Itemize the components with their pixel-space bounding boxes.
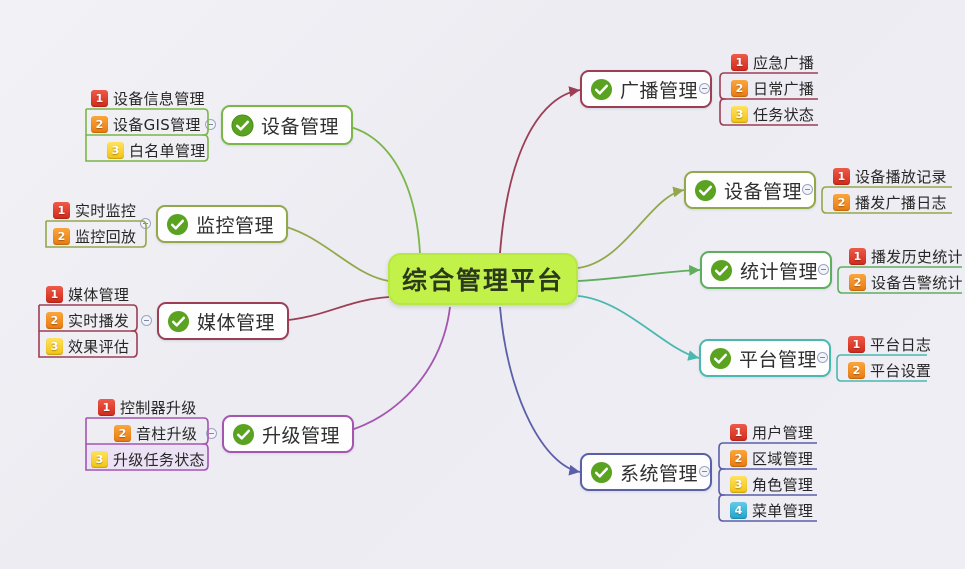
branch-label: 设备管理	[261, 112, 339, 139]
leaf-label: 用户管理	[752, 422, 813, 443]
mindmap-canvas: 综合管理平台 设备管理 1 设备信息管理 2 设备GI	[0, 0, 965, 569]
branch-node-platform-mgmt[interactable]: 平台管理	[699, 339, 831, 377]
leaf-label: 音柱升级	[136, 423, 197, 444]
collapse-minus-icon[interactable]	[818, 264, 829, 275]
branch-node-device-mgmt-left[interactable]: 设备管理	[221, 105, 353, 145]
leaf-badge: 1	[731, 54, 748, 71]
leaf-item[interactable]: 3 任务状态	[728, 102, 820, 127]
leaf-item[interactable]: 1 应急广播	[728, 50, 820, 75]
leaf-badge: 1	[833, 168, 850, 185]
leafgroup-upgrade-mgmt: 1 控制器升级 2 音柱升级 3 升级任务状态	[84, 393, 209, 475]
leaf-label: 角色管理	[752, 474, 813, 495]
leaf-label: 菜单管理	[752, 500, 813, 521]
leaf-badge: 3	[730, 476, 747, 493]
branch-node-system-mgmt[interactable]: 系统管理	[580, 453, 712, 491]
leaf-item[interactable]: 2 设备告警统计	[846, 270, 965, 295]
leaf-label: 效果评估	[68, 336, 129, 357]
leaf-item[interactable]: 2 日常广播	[728, 76, 820, 101]
branch-node-media-mgmt[interactable]: 媒体管理	[157, 302, 289, 340]
collapse-minus-icon[interactable]	[817, 352, 828, 363]
leaf-item[interactable]: 1 控制器升级	[95, 395, 203, 420]
leaf-label: 设备信息管理	[113, 88, 205, 109]
center-node-label: 综合管理平台	[402, 261, 564, 297]
leaf-label: 播发历史统计	[871, 246, 963, 267]
check-circle-icon	[694, 179, 717, 202]
leaf-label: 日常广播	[753, 78, 814, 99]
leaf-badge: 2	[53, 228, 70, 245]
leaf-badge: 3	[91, 451, 108, 468]
branch-label: 平台管理	[739, 345, 817, 372]
leaf-label: 应急广播	[753, 52, 814, 73]
leaf-badge: 1	[730, 424, 747, 441]
leaf-item[interactable]: 3 效果评估	[43, 334, 135, 359]
leaf-label: 平台日志	[870, 334, 931, 355]
leaf-label: 设备告警统计	[871, 272, 963, 293]
check-circle-icon	[710, 259, 733, 282]
check-circle-icon	[232, 423, 255, 446]
center-node[interactable]: 综合管理平台	[388, 253, 578, 305]
leaf-badge: 1	[98, 399, 115, 416]
leaf-item[interactable]: 2 音柱升级	[111, 421, 203, 446]
leafgroup-monitor-mgmt: 1 实时监控 2 监控回放	[44, 196, 149, 248]
branch-node-upgrade-mgmt[interactable]: 升级管理	[222, 415, 354, 453]
leaf-label: 设备GIS管理	[113, 114, 201, 135]
check-circle-icon	[231, 114, 254, 137]
leaf-badge: 1	[91, 90, 108, 107]
collapse-minus-icon[interactable]	[699, 466, 710, 477]
leaf-label: 区域管理	[752, 448, 813, 469]
branch-label: 设备管理	[724, 177, 802, 204]
collapse-minus-icon[interactable]	[699, 83, 710, 94]
leaf-label: 媒体管理	[68, 284, 129, 305]
branch-node-stat-mgmt[interactable]: 统计管理	[700, 251, 832, 289]
leafgroup-stat-mgmt: 1 播发历史统计 2 设备告警统计	[832, 242, 965, 298]
leaf-label: 监控回放	[75, 226, 136, 247]
branch-label: 广播管理	[620, 76, 698, 103]
branch-node-monitor-mgmt[interactable]: 监控管理	[156, 205, 288, 243]
leaf-label: 播发广播日志	[855, 192, 947, 213]
branch-node-device-mgmt-right[interactable]: 设备管理	[684, 171, 816, 209]
check-circle-icon	[167, 310, 190, 333]
leafgroup-device-mgmt-left: 1 设备信息管理 2 设备GIS管理 3 白名单管理	[84, 84, 209, 162]
leaf-label: 实时监控	[75, 200, 136, 221]
leaf-item[interactable]: 1 实时监控	[50, 198, 142, 223]
leaf-badge: 3	[46, 338, 63, 355]
leaf-item[interactable]: 2 播发广播日志	[830, 190, 953, 215]
leaf-badge: 1	[46, 286, 63, 303]
leaf-item[interactable]: 3 白名单管理	[104, 138, 212, 163]
check-circle-icon	[709, 347, 732, 370]
leaf-badge: 3	[107, 142, 124, 159]
leaf-label: 实时播发	[68, 310, 129, 331]
leaf-item[interactable]: 1 设备播放记录	[830, 164, 953, 189]
leaf-badge: 1	[53, 202, 70, 219]
leaf-badge: 2	[730, 450, 747, 467]
branch-label: 统计管理	[740, 257, 818, 284]
leaf-item[interactable]: 4 菜单管理	[727, 498, 819, 523]
check-circle-icon	[166, 213, 189, 236]
branch-label: 升级管理	[262, 421, 340, 448]
leaf-badge: 2	[833, 194, 850, 211]
leaf-item[interactable]: 2 设备GIS管理	[88, 112, 207, 137]
leaf-badge: 4	[730, 502, 747, 519]
leaf-item[interactable]: 3 角色管理	[727, 472, 819, 497]
leaf-label: 白名单管理	[129, 140, 206, 161]
leaf-badge: 1	[849, 248, 866, 265]
leaf-item[interactable]: 1 媒体管理	[43, 282, 135, 307]
leaf-badge: 2	[848, 362, 865, 379]
branch-node-broadcast-mgmt[interactable]: 广播管理	[580, 70, 712, 108]
leaf-item[interactable]: 1 设备信息管理	[88, 86, 211, 111]
leaf-item[interactable]: 3 升级任务状态	[88, 447, 211, 472]
leaf-badge: 3	[731, 106, 748, 123]
leafgroup-system-mgmt: 1 用户管理 2 区域管理 3 角色管理 4 菜单管理	[713, 418, 823, 526]
leafgroup-broadcast-mgmt: 1 应急广播 2 日常广播 3 任务状态	[714, 48, 824, 130]
leaf-label: 升级任务状态	[113, 449, 205, 470]
check-circle-icon	[590, 78, 613, 101]
leafgroup-device-mgmt-right: 1 设备播放记录 2 播发广播日志	[816, 162, 956, 218]
leaf-item[interactable]: 2 平台设置	[845, 358, 937, 383]
leaf-badge: 2	[46, 312, 63, 329]
leaf-badge: 1	[848, 336, 865, 353]
leaf-item[interactable]: 2 区域管理	[727, 446, 819, 471]
branch-label: 媒体管理	[197, 308, 275, 335]
leafgroup-media-mgmt: 1 媒体管理 2 实时播发 3 效果评估	[37, 280, 142, 360]
leaf-item[interactable]: 1 播发历史统计	[846, 244, 965, 269]
branch-label: 系统管理	[620, 459, 698, 486]
collapse-minus-icon[interactable]	[802, 184, 813, 195]
leaf-item[interactable]: 1 平台日志	[845, 332, 937, 357]
leaf-badge: 2	[731, 80, 748, 97]
leaf-item[interactable]: 2 监控回放	[50, 224, 142, 249]
leaf-label: 平台设置	[870, 360, 931, 381]
leaf-item[interactable]: 2 实时播发	[43, 308, 135, 333]
check-circle-icon	[590, 461, 613, 484]
leaf-item[interactable]: 1 用户管理	[727, 420, 819, 445]
leaf-badge: 2	[114, 425, 131, 442]
collapse-minus-icon[interactable]	[141, 315, 152, 326]
leaf-badge: 2	[91, 116, 108, 133]
leaf-label: 控制器升级	[120, 397, 197, 418]
leaf-label: 设备播放记录	[855, 166, 947, 187]
leaf-badge: 2	[849, 274, 866, 291]
leaf-label: 任务状态	[753, 104, 814, 125]
leafgroup-platform-mgmt: 1 平台日志 2 平台设置	[831, 330, 936, 386]
branch-label: 监控管理	[196, 211, 274, 238]
